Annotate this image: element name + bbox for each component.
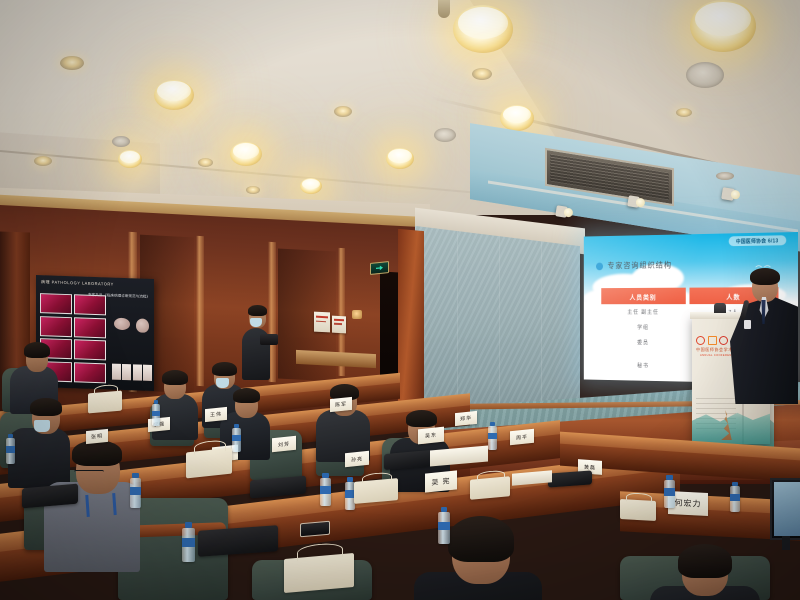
- speaker-name-badge: [744, 320, 751, 329]
- poster-image: [74, 340, 106, 361]
- name-card: 周平: [510, 429, 534, 446]
- poster-image: [40, 316, 72, 337]
- audience-hair: [678, 544, 732, 578]
- poster-title: 病理 PATHOLOGY LABORATORY: [41, 279, 114, 288]
- water-bottle: [130, 478, 141, 508]
- name-card-text: 王伟: [210, 410, 222, 418]
- tote-bag: [284, 553, 354, 593]
- face-mask: [250, 318, 262, 327]
- water-bottle: [664, 480, 675, 508]
- name-card-text: 郑华: [460, 414, 472, 422]
- audience-hair: [30, 398, 62, 416]
- wall-notice: [332, 316, 346, 334]
- recessed-downlight: [246, 186, 260, 194]
- ceiling-speaker: [686, 62, 724, 88]
- audience-hair: [448, 516, 514, 562]
- poster-image: [74, 317, 106, 338]
- lanyard: [85, 493, 116, 517]
- ceiling-light: [300, 178, 322, 194]
- spotlight: [721, 187, 735, 201]
- recessed-downlight: [198, 158, 213, 167]
- wall-sconce: [352, 310, 362, 319]
- name-card: 孙亮: [345, 451, 369, 468]
- water-bottle: [438, 512, 450, 544]
- face-mask: [216, 378, 229, 388]
- name-card: 吴东: [418, 427, 444, 445]
- name-card-text: 孙亮: [351, 455, 363, 463]
- water-bottle: [152, 404, 160, 426]
- ceiling-light: [230, 142, 262, 166]
- ceiling-speaker: [434, 128, 456, 142]
- name-card-text: 周平: [516, 433, 528, 441]
- exit-arrow-icon: [376, 265, 383, 272]
- name-card-text: 陈军: [335, 400, 347, 408]
- smartphone: [300, 521, 330, 538]
- name-card-text: 张明: [91, 432, 103, 440]
- name-card: 张明: [86, 429, 108, 444]
- ceiling-sprinkler: [438, 0, 450, 18]
- name-card-text: 吴东: [425, 431, 437, 439]
- poster-image: [74, 362, 106, 383]
- ceiling-light: [690, 0, 756, 52]
- tote-bag: [186, 448, 232, 479]
- name-card: 陈军: [330, 397, 352, 412]
- poster-thumbnail-strip: [112, 364, 152, 381]
- laptop-bag: [198, 525, 278, 557]
- wall-notice: [314, 312, 330, 333]
- water-bottle: [232, 428, 241, 452]
- recessed-downlight: [34, 156, 52, 166]
- water-bottle: [6, 438, 15, 464]
- wall-trim-strip: [196, 236, 204, 386]
- face-mask: [34, 420, 50, 432]
- audience-hair: [406, 410, 437, 427]
- name-card: 吴 宪: [425, 470, 457, 492]
- audience-hair: [212, 362, 237, 376]
- ceiling-speaker: [112, 136, 130, 147]
- audience-torso: [8, 428, 70, 488]
- name-card: 王伟: [205, 407, 227, 422]
- name-card: 刘芳: [272, 436, 296, 453]
- audience-hair: [162, 370, 188, 385]
- name-card: 郑华: [455, 411, 477, 426]
- monitor-stand: [782, 536, 790, 550]
- recessed-downlight: [60, 56, 84, 70]
- water-bottle: [730, 486, 740, 512]
- ceiling-speaker: [716, 172, 734, 180]
- conference-hall-photo: ︵ ︵ ︵ 中国医师协会 6/13 专家咨询组织结构 人员类别 人数 主任 副主…: [0, 0, 800, 600]
- recessed-downlight: [676, 108, 692, 117]
- audience-hair: [24, 342, 50, 358]
- ceiling-light: [453, 5, 513, 53]
- water-bottle: [320, 478, 331, 506]
- laptop-bag: [250, 476, 306, 499]
- speaker-hair: [750, 268, 780, 285]
- tote-bag: [470, 476, 510, 499]
- poster-diagram-shape: [114, 318, 130, 331]
- recessed-downlight: [472, 68, 492, 80]
- ceiling-light: [154, 80, 194, 110]
- spotlight: [555, 205, 568, 218]
- podium-microphone: [714, 303, 726, 313]
- audience-hair: [72, 440, 122, 466]
- camera: [260, 334, 278, 345]
- tote-bag: [620, 499, 656, 521]
- poster-image: [40, 293, 72, 314]
- ceiling-light: [500, 105, 534, 131]
- spotlight: [627, 195, 640, 208]
- display-monitor: [770, 478, 800, 540]
- water-bottle: [488, 426, 497, 450]
- name-card-text: 吴 宪: [432, 476, 451, 488]
- recessed-downlight: [334, 106, 352, 117]
- name-card-text: 刘芳: [278, 440, 290, 448]
- name-card-text: 何宏力: [675, 497, 702, 509]
- monitor-screen: [774, 482, 800, 536]
- exit-sign: [370, 261, 389, 275]
- eyeglasses: [74, 470, 104, 474]
- tote-bag: [88, 391, 122, 414]
- tote-bag: [354, 478, 398, 504]
- ceiling-light: [118, 150, 142, 168]
- poster-diagram-shape: [136, 318, 149, 332]
- water-bottle: [182, 528, 195, 562]
- photographer-hair: [248, 305, 267, 316]
- ceiling-light: [386, 148, 414, 169]
- audience-hair: [233, 388, 260, 403]
